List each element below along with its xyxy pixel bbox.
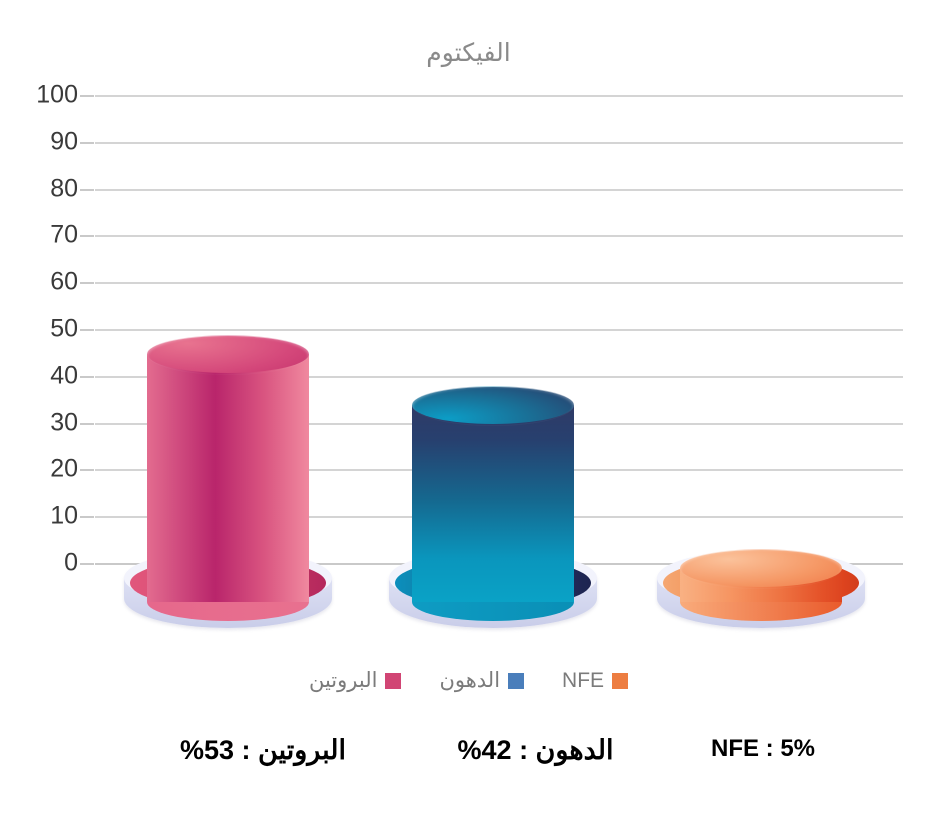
legend-item-nfe[interactable]: NFE bbox=[562, 669, 628, 693]
gridline bbox=[95, 189, 903, 191]
legend-swatch-fat bbox=[508, 673, 524, 689]
legend-item-protein[interactable]: البروتين bbox=[309, 668, 401, 693]
y-axis-label: 60 bbox=[0, 268, 78, 297]
y-axis-label: 80 bbox=[0, 174, 78, 203]
y-axis-tick bbox=[80, 376, 94, 378]
y-axis-label: 50 bbox=[0, 315, 78, 344]
bar-fat[interactable] bbox=[389, 298, 597, 628]
legend-swatch-protein bbox=[385, 673, 401, 689]
legend-item-label: NFE bbox=[562, 669, 604, 693]
y-axis-label: 40 bbox=[0, 361, 78, 390]
gridline bbox=[95, 282, 903, 284]
y-axis-label: 0 bbox=[0, 549, 78, 578]
bar-nfe[interactable] bbox=[657, 298, 865, 628]
y-axis-label: 100 bbox=[0, 81, 78, 110]
y-axis-label: 30 bbox=[0, 408, 78, 437]
bar-body[interactable] bbox=[412, 405, 574, 602]
y-axis-tick bbox=[80, 95, 94, 97]
chart-title: الفيكتوم bbox=[0, 38, 937, 68]
y-axis-label: 10 bbox=[0, 502, 78, 531]
y-axis-label: 20 bbox=[0, 455, 78, 484]
y-axis-tick bbox=[80, 469, 94, 471]
y-axis-tick bbox=[80, 235, 94, 237]
y-axis: 100 90 80 70 60 50 40 30 20 10 0 bbox=[0, 95, 78, 563]
legend-item-label: البروتين bbox=[309, 668, 377, 693]
y-axis-tick bbox=[80, 282, 94, 284]
gridline bbox=[95, 235, 903, 237]
y-axis-tick bbox=[80, 516, 94, 518]
y-axis-tick bbox=[80, 189, 94, 191]
y-axis-tick bbox=[80, 423, 94, 425]
bottom-label-fat: الدهون : 42% bbox=[418, 735, 653, 766]
bottom-labels: البروتين : 53% الدهون : 42% NFE : 5% bbox=[0, 735, 937, 785]
bottom-label-nfe: NFE : 5% bbox=[663, 735, 863, 763]
bar-body[interactable] bbox=[680, 568, 842, 602]
legend: البروتين الدهون NFE bbox=[0, 668, 937, 693]
bar-body-top-sheen bbox=[680, 547, 842, 589]
bar-body-side bbox=[412, 405, 574, 602]
legend-item-fat[interactable]: الدهون bbox=[439, 668, 524, 693]
legend-item-label: الدهون bbox=[439, 668, 500, 693]
y-axis-tick bbox=[80, 563, 94, 565]
legend-swatch-nfe bbox=[612, 673, 628, 689]
y-axis-label: 70 bbox=[0, 221, 78, 250]
bar-body-side bbox=[147, 354, 309, 602]
bottom-label-protein: البروتين : 53% bbox=[118, 735, 408, 766]
gridline bbox=[95, 95, 903, 97]
gridline bbox=[95, 142, 903, 144]
chart-container: الفيكتوم 100 90 80 70 60 50 40 30 20 10 … bbox=[0, 0, 937, 818]
y-axis-label: 90 bbox=[0, 127, 78, 156]
bar-body-top-sheen bbox=[412, 384, 574, 426]
bar-body-top-sheen bbox=[147, 333, 309, 375]
y-axis-tick bbox=[80, 329, 94, 331]
bar-protein[interactable] bbox=[124, 298, 332, 628]
y-axis-tick bbox=[80, 142, 94, 144]
bar-body[interactable] bbox=[147, 354, 309, 602]
